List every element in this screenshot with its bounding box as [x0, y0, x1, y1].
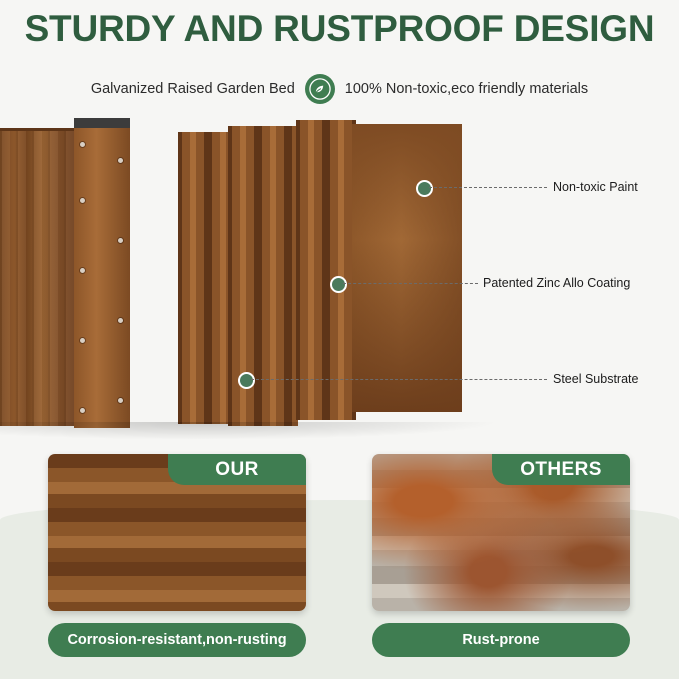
panel-layer-3	[296, 120, 356, 420]
subtitle-row: Galvanized Raised Garden Bed 100% Non-to…	[0, 74, 679, 104]
hero-shadow	[0, 422, 500, 440]
callout-label-steel-substrate: Steel Substrate	[553, 372, 638, 386]
subtitle-left: Galvanized Raised Garden Bed	[91, 81, 295, 97]
our-ribbon-label: OUR	[168, 454, 306, 485]
callout-label-non-toxic-paint: Non-toxic Paint	[553, 180, 638, 194]
panel-layer-4	[352, 124, 462, 412]
our-caption: Corrosion-resistant,non-rusting	[48, 623, 306, 657]
our-product-card: OUR	[48, 454, 306, 611]
panel-layer-1	[178, 132, 230, 424]
callout-dot-zinc-alloy-coating	[330, 276, 347, 293]
corner-post	[74, 118, 130, 428]
others-ribbon-label: OTHERS	[492, 454, 630, 485]
page-title: STURDY AND RUSTPROOF DESIGN	[0, 8, 679, 50]
callout-line-steel-substrate	[251, 379, 547, 380]
comparison-section: OUR OTHERS Corrosion-resistant,non-rusti…	[0, 440, 679, 679]
others-caption: Rust-prone	[372, 623, 630, 657]
others-product-card: OTHERS	[372, 454, 630, 611]
callout-dot-non-toxic-paint	[416, 180, 433, 197]
eco-leaf-icon	[305, 74, 335, 104]
callout-label-zinc-alloy-coating: Patented Zinc Allo Coating	[483, 276, 630, 290]
callout-line-non-toxic-paint	[429, 187, 547, 188]
hero-product-image: Non-toxic Paint Patented Zinc Allo Coati…	[0, 110, 679, 440]
left-panel	[0, 128, 78, 426]
callout-dot-steel-substrate	[238, 372, 255, 389]
product-infographic: STURDY AND RUSTPROOF DESIGN Galvanized R…	[0, 0, 679, 679]
callout-line-zinc-alloy-coating	[343, 283, 478, 284]
subtitle-right: 100% Non-toxic,eco friendly materials	[345, 81, 588, 97]
